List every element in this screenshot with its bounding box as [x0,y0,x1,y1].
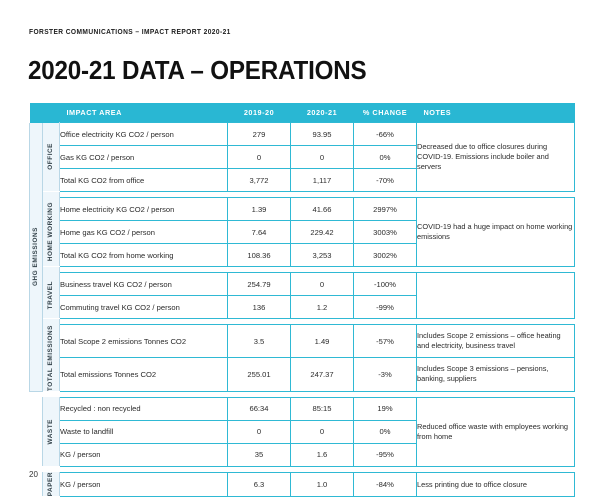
cell-2020-21: 0 [291,273,354,296]
table-row: Total emissions Tonnes CO2255.01247.37-3… [30,358,575,391]
cell-percent-change: -100% [354,273,417,296]
cell-2020-21: 1,117 [291,169,354,192]
running-head: FORSTER COMMUNICATIONS – IMPACT REPORT 2… [29,27,231,36]
cell-impact-area: Total KG CO2 from home working [60,244,228,267]
cell-2019-20: 3.5 [228,325,291,358]
table-row: TRAVELBusiness travel KG CO2 / person254… [30,273,575,296]
table-row: HOME WORKINGHome electricity KG CO2 / pe… [30,198,575,221]
cell-2019-20: 1.39 [228,198,291,221]
cell-impact-area: Total emissions Tonnes CO2 [60,358,228,391]
table-header: IMPACT AREA 2019-20 2020-21 % CHANGE NOT… [30,103,575,123]
column-header-impact-area: IMPACT AREA [60,103,228,123]
cell-impact-area: KG / person [60,443,228,466]
table-row: WASTERecycled : non recycled66:3485:1519… [30,397,575,420]
cell-2020-21: 3,253 [291,244,354,267]
cell-2019-20: 0 [228,146,291,169]
cell-2019-20: 254.79 [228,273,291,296]
cell-impact-area: Business travel KG CO2 / person [60,273,228,296]
cell-notes: Reduced office waste with employees work… [417,397,575,466]
cell-impact-area: Total KG CO2 from office [60,169,228,192]
header-spacer-outer [30,103,43,123]
cell-2019-20: 136 [228,296,291,319]
cell-percent-change: 3002% [354,244,417,267]
cell-percent-change: -99% [354,296,417,319]
cell-2020-21: 1.6 [291,443,354,466]
report-page: FORSTER COMMUNICATIONS – IMPACT REPORT 2… [0,0,600,504]
cell-impact-area: Total Scope 2 emissions Tonnes CO2 [60,325,228,358]
table-row: GHG EMISSIONSOFFICEOffice electricity KG… [30,123,575,146]
cell-2020-21: 93.95 [291,123,354,146]
cell-impact-area: Commuting travel KG CO2 / person [60,296,228,319]
operations-data-table-wrap: IMPACT AREA 2019-20 2020-21 % CHANGE NOT… [29,103,574,497]
cell-2020-21: 229.42 [291,221,354,244]
cell-percent-change: 3003% [354,221,417,244]
group-label-travel: TRAVEL [43,273,60,319]
band-label-placeholder [30,397,43,466]
group-label-paper: PAPER [43,472,60,497]
cell-2019-20: 0 [228,420,291,443]
cell-notes: Includes Scope 2 emissions – office heat… [417,325,575,358]
group-label-home-working: HOME WORKING [43,198,60,267]
cell-percent-change: -70% [354,169,417,192]
group-label-text: OFFICE [48,143,54,170]
cell-impact-area: Office electricity KG CO2 / person [60,123,228,146]
cell-percent-change: -84% [354,472,417,497]
page-number: 20 [29,470,38,479]
column-header-2019-20: 2019-20 [228,103,291,123]
cell-2020-21: 0 [291,146,354,169]
cell-2020-21: 1.2 [291,296,354,319]
cell-2019-20: 7.64 [228,221,291,244]
cell-impact-area: Recycled : non recycled [60,397,228,420]
cell-2020-21: 1.49 [291,325,354,358]
cell-notes: Includes Scope 3 emissions – pensions, b… [417,358,575,391]
table-row: PAPERKG / person6.31.0-84%Less printing … [30,472,575,497]
cell-notes [417,273,575,319]
operations-data-table: IMPACT AREA 2019-20 2020-21 % CHANGE NOT… [29,103,575,497]
cell-2019-20: 66:34 [228,397,291,420]
cell-2019-20: 255.01 [228,358,291,391]
cell-2019-20: 279 [228,123,291,146]
band-label-text: GHG EMISSIONS [33,227,39,286]
band-label-ghg-emissions: GHG EMISSIONS [30,123,43,392]
table-row: TOTAL EMISSIONSTotal Scope 2 emissions T… [30,325,575,358]
cell-percent-change: -57% [354,325,417,358]
cell-percent-change: 0% [354,420,417,443]
group-label-text: WASTE [48,419,54,444]
column-header-notes: NOTES [417,103,575,123]
cell-2020-21: 85:15 [291,397,354,420]
group-label-waste: WASTE [43,397,60,466]
cell-impact-area: Home electricity KG CO2 / person [60,198,228,221]
group-label-total-emissions: TOTAL EMISSIONS [43,325,60,392]
cell-impact-area: Home gas KG CO2 / person [60,221,228,244]
group-label-text: HOME WORKING [48,202,54,261]
cell-percent-change: 19% [354,397,417,420]
cell-2020-21: 247.37 [291,358,354,391]
group-label-text: TRAVEL [48,281,54,309]
cell-percent-change: 2997% [354,198,417,221]
cell-percent-change: -3% [354,358,417,391]
cell-notes: Decreased due to office closures during … [417,123,575,192]
cell-percent-change: 0% [354,146,417,169]
cell-notes: Less printing due to office closure [417,472,575,497]
cell-impact-area: Gas KG CO2 / person [60,146,228,169]
page-title: 2020-21 DATA – OPERATIONS [28,55,366,86]
header-spacer-group [43,103,60,123]
column-header-2020-21: 2020-21 [291,103,354,123]
column-header-percent-change: % CHANGE [354,103,417,123]
cell-2020-21: 1.0 [291,472,354,497]
cell-percent-change: -66% [354,123,417,146]
cell-percent-change: -95% [354,443,417,466]
cell-2019-20: 108.36 [228,244,291,267]
cell-2020-21: 0 [291,420,354,443]
cell-impact-area: Waste to landfill [60,420,228,443]
table-header-row: IMPACT AREA 2019-20 2020-21 % CHANGE NOT… [30,103,575,123]
group-label-office: OFFICE [43,123,60,192]
cell-2019-20: 6.3 [228,472,291,497]
cell-2019-20: 3,772 [228,169,291,192]
cell-impact-area: KG / person [60,472,228,497]
cell-notes: COVID-19 had a huge impact on home worki… [417,198,575,267]
group-label-text: PAPER [48,472,54,496]
cell-2019-20: 35 [228,443,291,466]
group-label-text: TOTAL EMISSIONS [48,325,54,391]
table-body: GHG EMISSIONSOFFICEOffice electricity KG… [30,123,575,497]
cell-2020-21: 41.66 [291,198,354,221]
